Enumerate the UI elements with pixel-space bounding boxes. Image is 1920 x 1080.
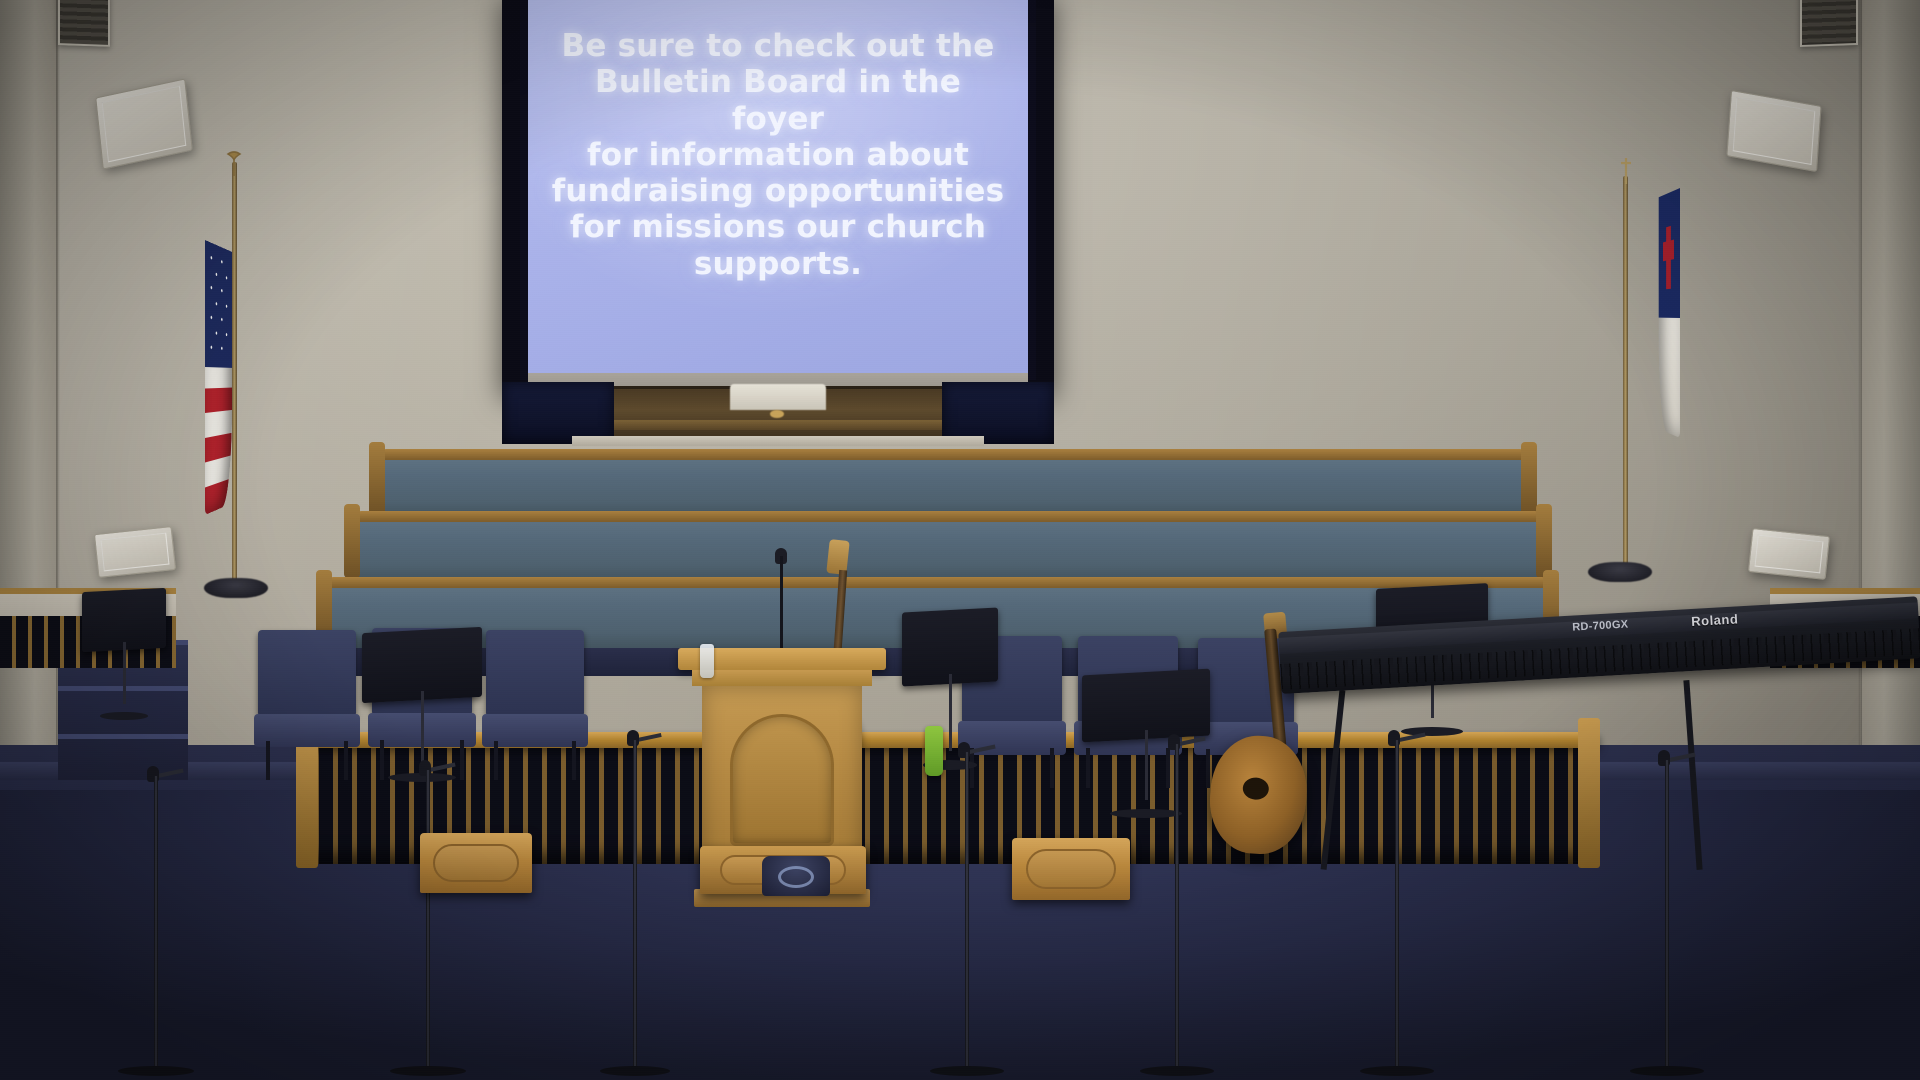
microphone-stand [600,740,670,1076]
mic-stand-shaft [154,776,158,1076]
slide-line: Be sure to check out the [550,28,1006,64]
music-stand-feet [100,712,147,720]
chair-leg [344,741,348,780]
rail-post [1578,718,1600,868]
music-stand-pole [123,642,126,704]
chair-leg [266,741,270,780]
slide-line: Bulletin Board in the foyer [550,64,1006,137]
pew-cap [383,449,1523,460]
wedge-grille [433,844,518,882]
slide-line: fundraising opportunities [550,173,1006,209]
floor-monitor-wedge [420,833,532,893]
music-stand [82,590,166,720]
stage-drape-right [942,382,1054,444]
mic-stand-base [390,1066,466,1076]
hvac-vent-icon [58,0,110,47]
water-bottle-clear [700,644,714,678]
mic-stand-base [930,1066,1004,1076]
hvac-vent-icon [1800,0,1858,47]
step-tread [58,734,188,739]
flag-canton-stars [205,240,232,367]
slide-line: for missions our church [550,209,1006,245]
pulpit-mic-stem [780,556,783,660]
platform-chair [258,630,356,780]
music-stand [362,630,482,782]
pew-cap [330,577,1545,588]
altar-accent [770,410,784,418]
pew-end-left [344,504,360,578]
stage-drape-left [502,382,614,444]
music-stand-pole [949,674,952,751]
slide-line: supports. [550,246,1006,282]
slide-line: for information about [550,137,1006,173]
mic-stand-base [1360,1066,1434,1076]
speaker-face [1733,97,1816,165]
mic-stand-base [1630,1066,1704,1076]
flag-cross-horizontal [1663,240,1674,262]
floor-monitor-wedge [1012,838,1130,900]
baptistry-rim [614,420,942,430]
chair-back [486,630,584,717]
pulpit-neck [692,670,872,686]
chair-leg [1050,748,1054,788]
mic-stand-base [118,1066,194,1076]
chair-leg [494,741,498,780]
mic-stand-base [600,1066,670,1076]
mic-stand-base [1140,1066,1214,1076]
platform-chair [486,630,584,780]
pew-end-left [369,442,385,516]
projection-screen: Be sure to check out the Bulletin Board … [502,0,1054,455]
eagle-finial-icon [226,150,242,176]
chair-back [258,630,356,717]
mic-stand-shaft [1395,740,1399,1076]
microphone-stand [1360,740,1434,1076]
christian-flag [1659,188,1680,438]
open-bible [730,384,826,410]
microphone-stand [1630,760,1704,1076]
choir-pew-row [358,520,1538,580]
mic-stand-shaft [1175,744,1179,1076]
announcement-slide-text: Be sure to check out the Bulletin Board … [528,28,1028,282]
microphone-stand [930,752,1004,1076]
mic-stand-shaft [426,770,430,1076]
mic-stand-shaft [965,752,969,1076]
mic-stand-shaft [1665,760,1669,1076]
microphone-stand [118,776,194,1076]
ring-detail [778,866,814,888]
chair-leg [572,741,576,780]
communion-table-item [762,856,830,896]
screen-surface: Be sure to check out the Bulletin Board … [528,0,1028,373]
sanctuary-camera-frame: Be sure to check out the Bulletin Board … [0,0,1920,1080]
music-stand-pole [421,691,424,764]
pew-cap [358,511,1538,522]
microphone-stand [1140,744,1214,1076]
microphone-stand [390,770,466,1076]
pew-end-right [1521,442,1537,516]
speaker-face [102,86,187,163]
choir-pew-row [383,458,1523,516]
pulpit-arch-panel [730,714,834,846]
keyboard-brand-label: Roland [1691,611,1739,629]
mic-stand-shaft [633,740,637,1076]
wedge-grille [1026,849,1116,889]
pew-end-right [1536,504,1552,578]
cross-finial-icon [1618,152,1634,184]
